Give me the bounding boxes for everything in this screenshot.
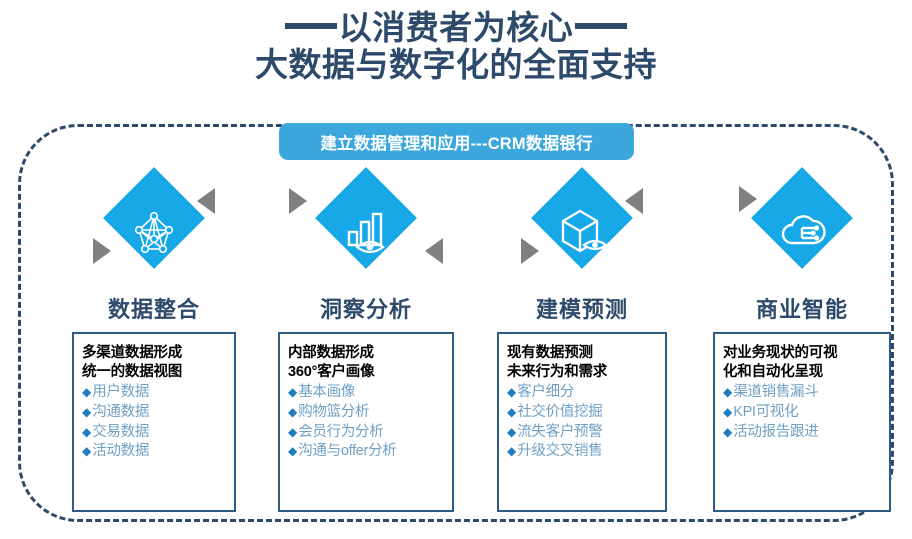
- list-item: ◆沟通数据: [82, 403, 228, 423]
- list-item: ◆社交价值挖掘: [507, 403, 659, 423]
- title-dash-left: [285, 23, 337, 29]
- diamond-bullet-icon: ◆: [723, 424, 732, 440]
- card-bullets-2: ◆基本画像 ◆ 购物篮分析 ◆会员行为分析 ◆沟通与offer分析: [288, 383, 446, 462]
- pillar-column-data-integration: 数据整合 多渠道数据形成 统一的数据视图 ◆用户数据 ◆沟通数据 ◆交易数据 ◆…: [48, 180, 260, 520]
- pillar-column-insight-analysis: 洞察分析 内部数据形成 360°客户画像 ◆基本画像 ◆ 购物篮分析 ◆会员行为…: [260, 180, 472, 520]
- pillar-column-business-intelligence: 商业智能 对业务现状的可视 化和自动化呈现 ◆渠道销售漏斗 ◆KPI可视化 ◆活…: [696, 180, 908, 520]
- diamond-bullet-icon: ◆: [82, 404, 91, 420]
- list-item: ◆沟通与offer分析: [288, 442, 446, 462]
- pillar-card-2: 内部数据形成 360°客户画像 ◆基本画像 ◆ 购物篮分析 ◆会员行为分析 ◆沟…: [278, 332, 454, 512]
- diamond-bullet-icon: ◆: [723, 384, 732, 400]
- list-item: ◆渠道销售漏斗: [723, 383, 883, 403]
- list-item: ◆用户数据: [82, 383, 228, 403]
- diamond-bullet-icon: ◆: [82, 443, 91, 459]
- list-item: ◆客户细分: [507, 383, 659, 403]
- pillar-title-1: 数据整合: [108, 292, 200, 324]
- diamond-bullet-icon: ◆: [288, 424, 297, 440]
- diamond-bullet-icon: ◆: [82, 384, 91, 400]
- card-bullets-3: ◆客户细分 ◆社交价值挖掘 ◆流失客户预警 ◆升级交叉销售: [507, 383, 659, 462]
- pillar-column-modeling-prediction: 建模预测 现有数据预测 未来行为和需求 ◆客户细分 ◆社交价值挖掘 ◆流失客户预…: [476, 180, 688, 520]
- title-line-1-text: 以消费者为核心: [339, 9, 574, 46]
- page-title: 以消费者为核心 大数据与数字化的全面支持: [0, 10, 912, 84]
- list-item: ◆会员行为分析: [288, 423, 446, 443]
- pillar-card-3: 现有数据预测 未来行为和需求 ◆客户细分 ◆社交价值挖掘 ◆流失客户预警 ◆升级…: [497, 332, 667, 512]
- diamond-bullet-icon: ◆: [288, 404, 297, 420]
- cube-eye-icon: [531, 182, 633, 284]
- diamond-bullet-icon: ◆: [82, 424, 91, 440]
- card-heading-2: 内部数据形成 360°客户画像: [288, 344, 446, 381]
- diamond-bullet-icon: ◆: [507, 424, 516, 440]
- list-item: ◆KPI可视化: [723, 403, 883, 423]
- cloud-network-icon: [751, 182, 853, 284]
- list-item: ◆升级交叉销售: [507, 442, 659, 462]
- network-graph-icon: [103, 182, 205, 284]
- diamond-bullet-icon: ◆: [507, 384, 516, 400]
- list-item: ◆基本画像: [288, 383, 446, 403]
- pillar-title-4: 商业智能: [756, 292, 848, 324]
- pillar-title-3: 建模预测: [536, 292, 628, 324]
- diamond-bullet-icon: ◆: [507, 443, 516, 459]
- list-item: ◆活动报告跟进: [723, 423, 883, 443]
- icon-block-2: [281, 180, 451, 288]
- list-item: ◆流失客户预警: [507, 423, 659, 443]
- card-heading-4: 对业务现状的可视 化和自动化呈现: [723, 344, 883, 381]
- title-dash-right: [575, 23, 627, 29]
- list-item: ◆交易数据: [82, 423, 228, 443]
- card-bullets-1: ◆用户数据 ◆沟通数据 ◆交易数据 ◆活动数据: [82, 383, 228, 462]
- bar-chart-eye-icon: [315, 182, 417, 284]
- crm-data-bank-banner: 建立数据管理和应用---CRM数据银行: [279, 123, 634, 160]
- card-heading-3: 现有数据预测 未来行为和需求: [507, 344, 659, 381]
- slide-canvas: 以消费者为核心 大数据与数字化的全面支持 建立数据管理和应用---CRM数据银行: [0, 0, 912, 539]
- card-heading-1: 多渠道数据形成 统一的数据视图: [82, 344, 228, 381]
- icon-block-1: [69, 180, 239, 288]
- list-item: ◆活动数据: [82, 442, 228, 462]
- diamond-bullet-icon: ◆: [723, 404, 732, 420]
- diamond-bullet-icon: ◆: [288, 384, 297, 400]
- pillar-columns: 数据整合 多渠道数据形成 统一的数据视图 ◆用户数据 ◆沟通数据 ◆交易数据 ◆…: [0, 180, 912, 520]
- icon-block-4: [717, 180, 887, 288]
- pillar-title-2: 洞察分析: [320, 292, 412, 324]
- diamond-bullet-icon: ◆: [288, 443, 297, 459]
- card-bullets-4: ◆渠道销售漏斗 ◆KPI可视化 ◆活动报告跟进: [723, 383, 883, 442]
- pillar-card-4: 对业务现状的可视 化和自动化呈现 ◆渠道销售漏斗 ◆KPI可视化 ◆活动报告跟进: [713, 332, 891, 512]
- icon-block-3: [497, 180, 667, 288]
- diamond-bullet-icon: ◆: [507, 404, 516, 420]
- arrow-left-triangle-icon: [425, 238, 443, 264]
- list-item: ◆ 购物篮分析: [288, 403, 446, 423]
- arrow-right-triangle-icon: [289, 188, 307, 214]
- title-line-1: 以消费者为核心: [0, 10, 912, 47]
- title-line-2: 大数据与数字化的全面支持: [0, 47, 912, 84]
- pillar-card-1: 多渠道数据形成 统一的数据视图 ◆用户数据 ◆沟通数据 ◆交易数据 ◆活动数据: [72, 332, 236, 512]
